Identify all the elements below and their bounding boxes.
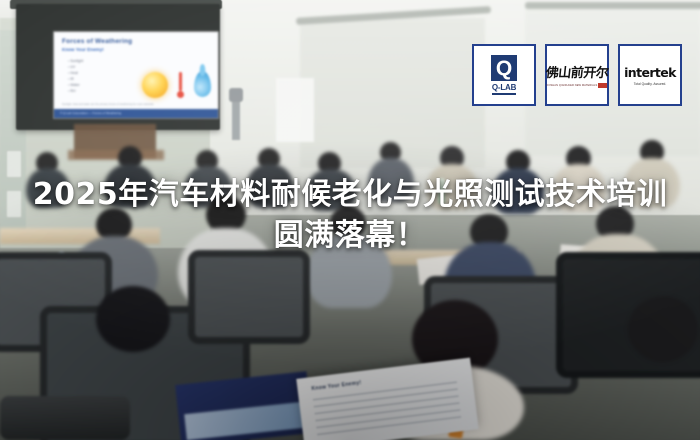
red-seal-icon bbox=[598, 83, 607, 88]
handout-text-lines bbox=[313, 381, 462, 438]
q-lab-mark-icon: Q bbox=[491, 55, 517, 81]
headline-line-2: 圆满落幕！ bbox=[0, 216, 700, 256]
headline-line-1: 2025年汽车材料耐候老化与光照测试技术培训 bbox=[0, 176, 700, 214]
logo-q-lab: Q Q-LAB bbox=[472, 44, 536, 106]
intertek-tagline: Total Quality. Assured. bbox=[634, 82, 667, 86]
logo-intertek: intertek Total Quality. Assured. bbox=[618, 44, 682, 106]
partner-logos: Q Q-LAB 佛山前开尔 FOSHAN QIANKAIER NEW MATER… bbox=[472, 44, 682, 106]
foshan-qiankaier-subtext-label: FOSHAN QIANKAIER NEW MATERIALS bbox=[547, 84, 598, 87]
logo-foshan-qiankaier: 佛山前开尔 FOSHAN QIANKAIER NEW MATERIALS bbox=[545, 44, 609, 106]
foshan-qiankaier-wordmark: 佛山前开尔 bbox=[545, 62, 610, 81]
q-lab-wordmark: Q-LAB bbox=[492, 83, 516, 95]
intertek-wordmark: intertek bbox=[624, 65, 676, 80]
headline-overlay: 2025年汽车材料耐候老化与光照测试技术培训 圆满落幕！ bbox=[0, 176, 700, 256]
handout-title: Know Your Enemy! bbox=[311, 380, 362, 392]
foshan-qiankaier-subtext: FOSHAN QIANKAIER NEW MATERIALS bbox=[547, 83, 608, 88]
promo-banner: Forces of Weathering Know Your Enemy! Su… bbox=[0, 0, 700, 440]
